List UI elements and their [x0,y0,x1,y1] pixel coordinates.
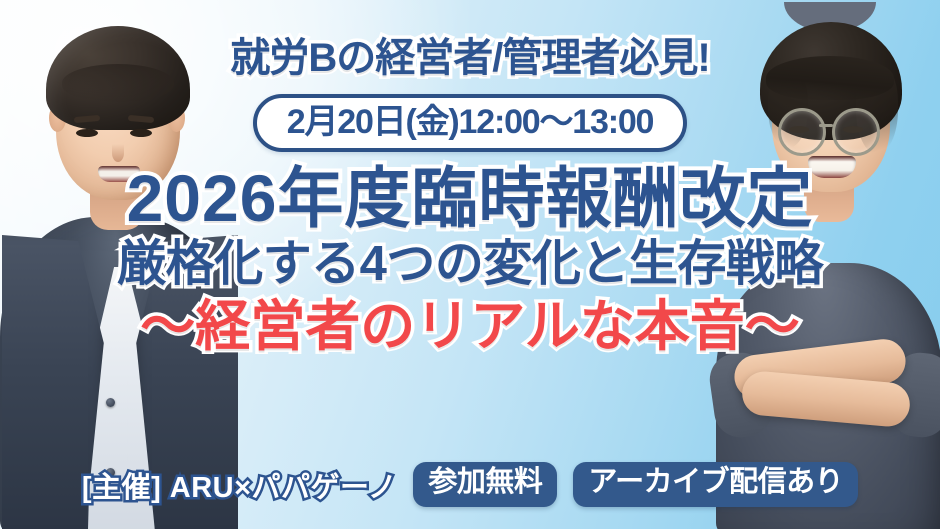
kicker-headline: 就労Bの経営者/管理者必見! [230,25,709,83]
badge-archive-available: アーカイブ配信あり [573,462,858,507]
banner-content: 就労Bの経営者/管理者必見! 2月20日(金)12:00〜13:00 2026年… [0,0,940,529]
page-subtitle: 厳格化する4つの変化と生存戦略 [117,238,823,291]
host-label: [主催] ARU×パパゲーノ [82,464,397,506]
webinar-banner: 就労Bの経営者/管理者必見! 2月20日(金)12:00〜13:00 2026年… [0,0,940,529]
date-pill: 2月20日(金)12:00〜13:00 [253,94,688,152]
date-pill-label: 2月20日(金)12:00〜13:00 [287,103,654,141]
badge-free-entry: 参加無料 [413,462,557,507]
tagline: 〜経営者のリアルな本音〜 [140,297,799,356]
footer-row: [主催] ARU×パパゲーノ 参加無料 アーカイブ配信あり [0,462,940,507]
page-title: 2026年度臨時報酬改定 [127,164,814,234]
